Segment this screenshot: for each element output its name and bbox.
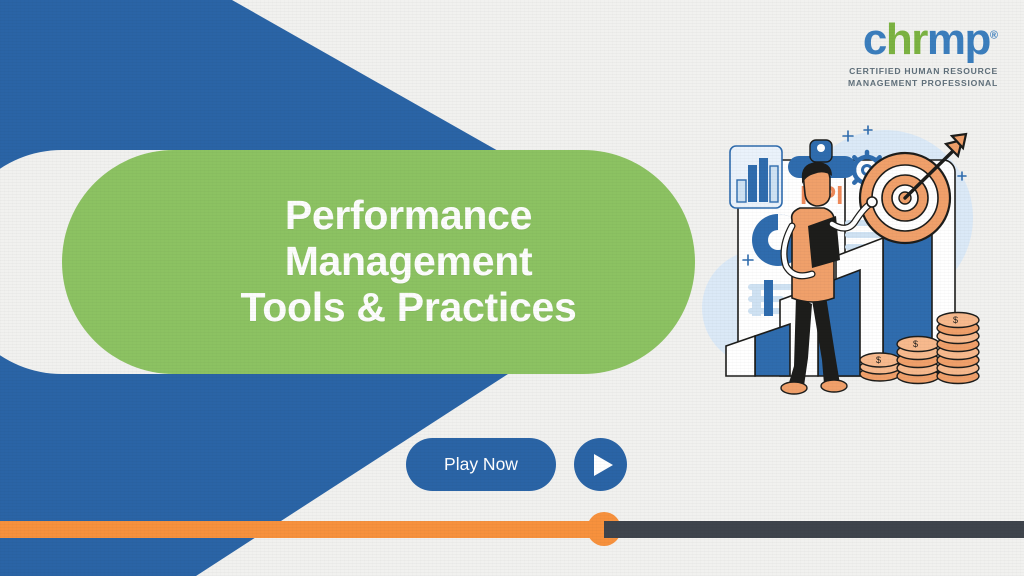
svg-text:$: $ — [913, 339, 918, 349]
title-line-1: Performance — [241, 193, 577, 239]
headline-pill: Performance Management Tools & Practices — [62, 150, 695, 374]
logo-letter-p: p — [965, 15, 990, 64]
registered-mark-icon: ® — [990, 29, 998, 41]
play-icon-button[interactable] — [574, 438, 627, 491]
cta-group: Play Now — [406, 438, 627, 491]
title-line-2: Management — [241, 239, 577, 285]
play-now-button[interactable]: Play Now — [406, 438, 556, 491]
logo-letter-h: h — [886, 15, 911, 64]
kpi-performance-illustration: KPI — [700, 108, 1000, 408]
brand-logo[interactable]: chrmp® CERTIFIED HUMAN RESOURCE MANAGEME… — [848, 18, 998, 90]
play-triangle-icon — [594, 454, 613, 476]
logo-wordmark: chrmp® — [863, 18, 998, 62]
brand-tagline-line-1: CERTIFIED HUMAN RESOURCE — [848, 65, 998, 77]
svg-text:$: $ — [876, 355, 881, 365]
title-line-3: Tools & Practices — [241, 285, 577, 331]
brand-tagline: CERTIFIED HUMAN RESOURCE MANAGEMENT PROF… — [848, 65, 998, 90]
svg-text:$: $ — [953, 315, 958, 325]
progress-bar[interactable] — [0, 521, 1024, 538]
play-now-label: Play Now — [444, 454, 518, 475]
brand-tagline-line-2: MANAGEMENT PROFESSIONAL — [848, 77, 998, 89]
logo-letter-r: r — [911, 15, 927, 64]
banner-canvas: Performance Management Tools & Practices… — [0, 0, 1024, 576]
logo-letter-m: m — [927, 15, 965, 64]
page-title: Performance Management Tools & Practices — [181, 193, 577, 331]
logo-letter-c: c — [863, 15, 886, 64]
progress-fill — [0, 521, 604, 538]
